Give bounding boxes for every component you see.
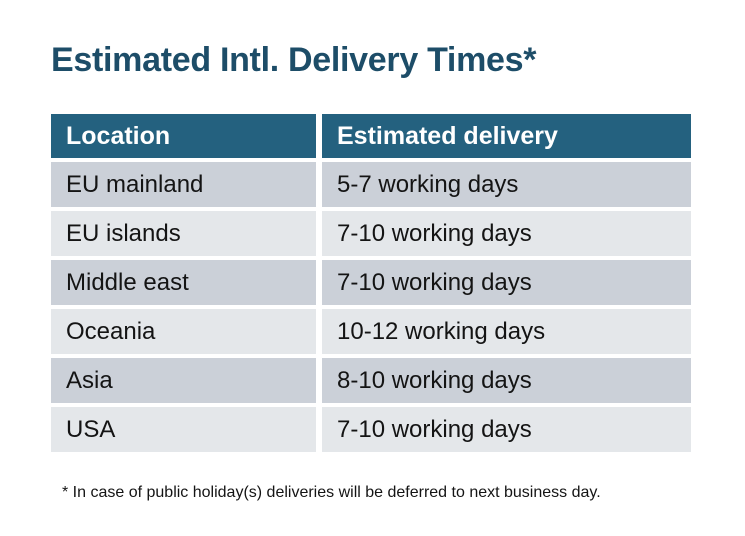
table-row: Middle east 7-10 working days — [51, 260, 691, 305]
cell-location: EU mainland — [51, 162, 316, 207]
table-row: EU islands 7-10 working days — [51, 211, 691, 256]
cell-location: Asia — [51, 358, 316, 403]
table-row: Asia 8-10 working days — [51, 358, 691, 403]
cell-estimated-delivery: 7-10 working days — [322, 407, 691, 452]
column-header-location: Location — [51, 114, 316, 158]
footnote-text: * In case of public holiday(s) deliverie… — [62, 482, 601, 504]
cell-location: EU islands — [51, 211, 316, 256]
table-header-row: Location Estimated delivery — [51, 114, 691, 158]
table-row: EU mainland 5-7 working days — [51, 162, 691, 207]
column-header-estimated-delivery: Estimated delivery — [322, 114, 691, 158]
cell-estimated-delivery: 5-7 working days — [322, 162, 691, 207]
cell-estimated-delivery: 7-10 working days — [322, 260, 691, 305]
delivery-times-table: Location Estimated delivery EU mainland … — [51, 114, 691, 452]
delivery-times-page: Estimated Intl. Delivery Times* Location… — [0, 0, 745, 536]
table-row: Oceania 10-12 working days — [51, 309, 691, 354]
cell-estimated-delivery: 8-10 working days — [322, 358, 691, 403]
cell-estimated-delivery: 10-12 working days — [322, 309, 691, 354]
table-row: USA 7-10 working days — [51, 407, 691, 452]
page-title: Estimated Intl. Delivery Times* — [51, 38, 536, 82]
cell-location: Middle east — [51, 260, 316, 305]
cell-location: Oceania — [51, 309, 316, 354]
cell-location: USA — [51, 407, 316, 452]
cell-estimated-delivery: 7-10 working days — [322, 211, 691, 256]
